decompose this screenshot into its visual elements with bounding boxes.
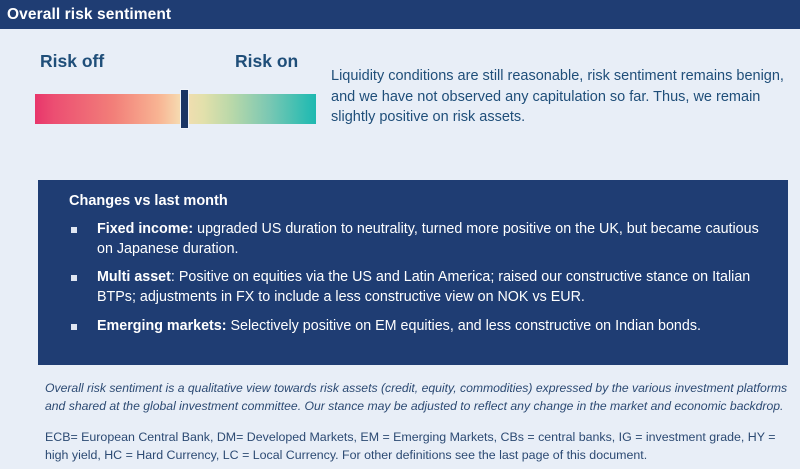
gauge-labels: Risk off Risk on xyxy=(35,52,316,80)
page-header: Overall risk sentiment xyxy=(0,0,800,29)
list-item-text: Selectively positive on EM equities, and… xyxy=(227,318,701,334)
list-item-text: upgraded US duration to neutrality, turn… xyxy=(97,221,759,257)
changes-panel: Changes vs last month Fixed income: upgr… xyxy=(38,180,788,365)
square-bullet-icon xyxy=(71,324,77,330)
gauge-label-risk-off: Risk off xyxy=(40,52,104,71)
list-item: Fixed income: upgraded US duration to ne… xyxy=(66,220,772,259)
gauge-label-risk-on: Risk on xyxy=(235,52,298,71)
changes-panel-title: Changes vs last month xyxy=(66,193,772,209)
list-item-text: : Positive on equities via the US and La… xyxy=(97,269,750,305)
list-item: Emerging markets: Selectively positive o… xyxy=(66,317,772,337)
square-bullet-icon xyxy=(71,275,77,281)
square-bullet-icon xyxy=(71,227,77,233)
disclaimer-note: Overall risk sentiment is a qualitative … xyxy=(45,380,790,415)
list-item-lead: Fixed income: xyxy=(97,221,193,237)
abbreviations-note: ECB= European Central Bank, DM= Develope… xyxy=(45,429,790,464)
page-title: Overall risk sentiment xyxy=(0,7,171,23)
summary-paragraph: Liquidity conditions are still reasonabl… xyxy=(331,66,786,128)
list-item-lead: Multi asset xyxy=(97,269,171,285)
gauge-bar-wrapper xyxy=(35,94,316,124)
risk-sentiment-gauge: Risk off Risk on xyxy=(35,52,316,124)
gauge-gradient-bar xyxy=(35,94,316,124)
list-item: Multi asset: Positive on equities via th… xyxy=(66,268,772,307)
gauge-position-marker xyxy=(180,89,189,129)
changes-bullet-list: Fixed income: upgraded US duration to ne… xyxy=(66,220,772,337)
list-item-lead: Emerging markets: xyxy=(97,318,227,334)
